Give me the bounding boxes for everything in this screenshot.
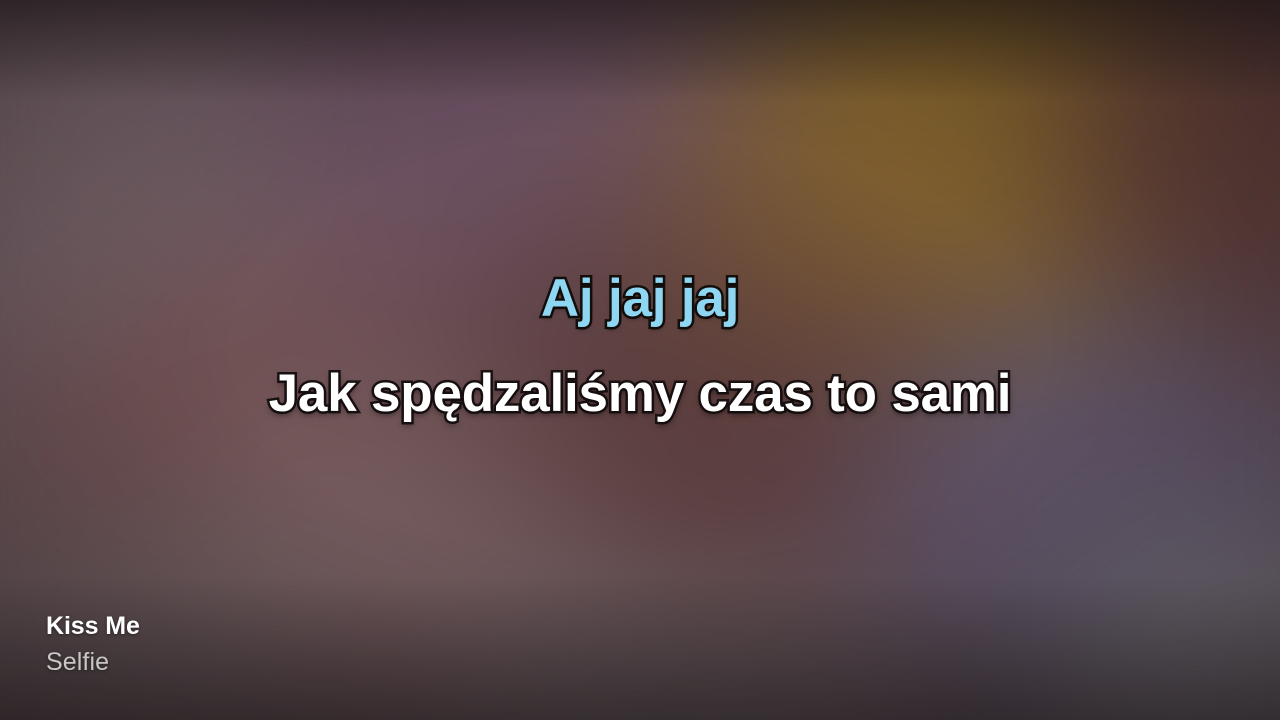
track-title: Kiss Me <box>46 611 140 642</box>
track-info: Kiss Me Selfie <box>46 611 140 679</box>
lyrics-player-screen: Aj jaj jaj Jak spędzaliśmy czas to sami … <box>0 0 1280 720</box>
lyrics-next-line: Jak spędzaliśmy czas to sami <box>40 363 1240 426</box>
backdrop-blob-warm-midleft <box>180 380 600 710</box>
track-artist: Selfie <box>46 647 140 678</box>
lyrics-container: Aj jaj jaj Jak spędzaliśmy czas to sami <box>0 268 1280 425</box>
lyrics-active-line: Aj jaj jaj <box>40 268 1240 331</box>
